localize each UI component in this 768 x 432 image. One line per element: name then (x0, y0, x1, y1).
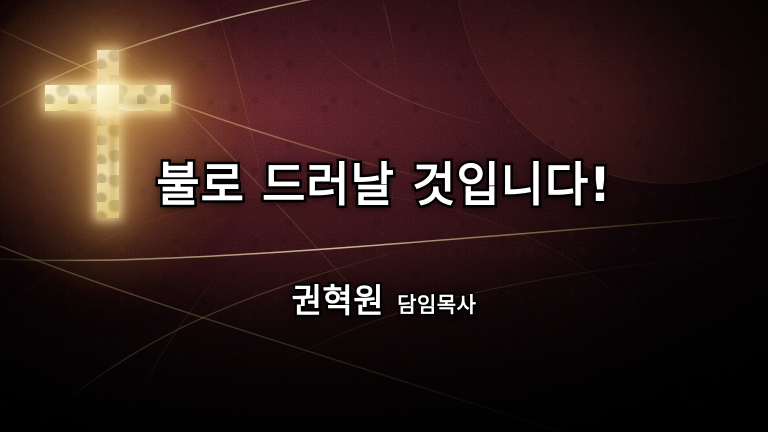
speaker-role: 담임목사 (397, 289, 476, 319)
sermon-title-container: 불로 드러날 것입니다! (0, 160, 768, 212)
sermon-title: 불로 드러날 것입니다! (156, 160, 611, 212)
speaker-container: 권혁원담임목사 (0, 274, 768, 322)
cross-center-core (97, 85, 119, 111)
sermon-title-slide: 불로 드러날 것입니다! 권혁원담임목사 (0, 0, 768, 432)
speaker-name: 권혁원 (292, 274, 385, 322)
